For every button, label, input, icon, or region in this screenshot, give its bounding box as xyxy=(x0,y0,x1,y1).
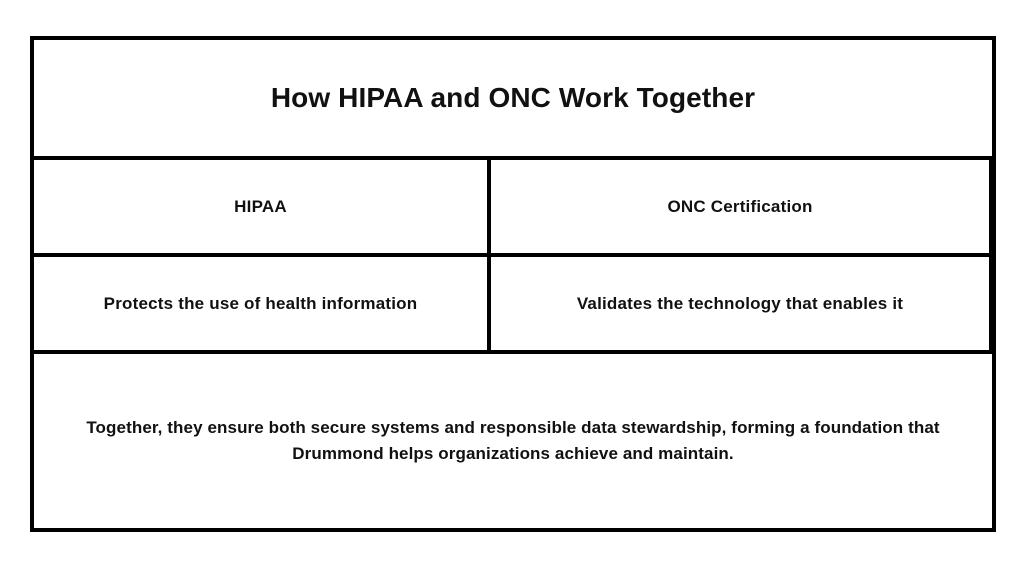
hipaa-heading-label: HIPAA xyxy=(234,196,287,217)
table-cell-onc-heading: ONC Certification xyxy=(491,160,992,253)
table-title-row: How HIPAA and ONC Work Together xyxy=(34,40,992,160)
comparison-table: How HIPAA and ONC Work Together HIPAA ON… xyxy=(30,36,996,532)
summary-paragraph: Together, they ensure both secure system… xyxy=(60,415,966,468)
table-cell-onc-description: Validates the technology that enables it xyxy=(491,257,992,350)
onc-description-label: Validates the technology that enables it xyxy=(577,293,903,314)
table-summary-row: Together, they ensure both secure system… xyxy=(34,354,992,528)
table-heading-row: HIPAA ONC Certification xyxy=(34,160,992,257)
table-description-row: Protects the use of health information V… xyxy=(34,257,992,354)
hipaa-description-label: Protects the use of health information xyxy=(104,293,418,314)
page-title: How HIPAA and ONC Work Together xyxy=(271,81,755,115)
table-cell-hipaa-heading: HIPAA xyxy=(34,160,491,253)
graphic-canvas: How HIPAA and ONC Work Together HIPAA ON… xyxy=(0,0,1024,576)
table-cell-hipaa-description: Protects the use of health information xyxy=(34,257,491,350)
onc-heading-label: ONC Certification xyxy=(667,196,812,217)
